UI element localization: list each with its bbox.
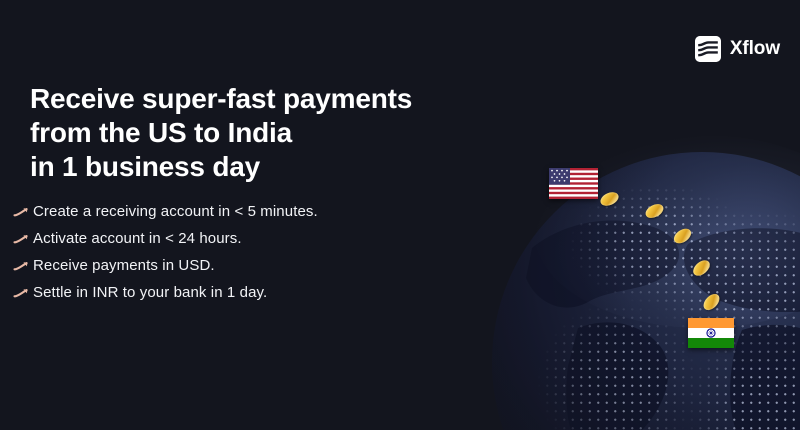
gold-coin-icon bbox=[598, 190, 620, 209]
list-item: Activate account in < 24 hours. bbox=[12, 227, 432, 251]
feature-list: Create a receiving account in < 5 minute… bbox=[12, 200, 432, 308]
list-item-label: Settle in INR to your bank in 1 day. bbox=[33, 283, 267, 303]
gold-coin-icon bbox=[671, 226, 693, 247]
us-flag-icon bbox=[549, 168, 598, 199]
gold-coin-icon bbox=[643, 201, 665, 221]
list-item-label: Create a receiving account in < 5 minute… bbox=[33, 202, 318, 222]
list-item-label: Activate account in < 24 hours. bbox=[33, 229, 242, 249]
globe-dot-grid bbox=[492, 152, 800, 430]
globe-sphere bbox=[492, 152, 800, 430]
globe-landmasses bbox=[492, 152, 800, 430]
list-item: Create a receiving account in < 5 minute… bbox=[12, 200, 432, 224]
xflow-logo-mark-icon bbox=[695, 36, 721, 62]
arrow-swoosh-icon bbox=[12, 260, 30, 272]
promo-banner: Receive super-fast payments from the US … bbox=[0, 0, 800, 430]
globe-highlight bbox=[534, 135, 800, 328]
globe-limb-shading bbox=[490, 150, 800, 430]
india-flag-icon bbox=[688, 318, 734, 348]
arrow-swoosh-icon bbox=[12, 233, 30, 245]
globe-illustration bbox=[492, 152, 800, 430]
gold-coin-icon bbox=[701, 291, 723, 313]
list-item: Settle in INR to your bank in 1 day. bbox=[12, 281, 432, 305]
page-title: Receive super-fast payments from the US … bbox=[30, 82, 460, 184]
list-item: Receive payments in USD. bbox=[12, 254, 432, 278]
arrow-swoosh-icon bbox=[12, 206, 30, 218]
arrow-swoosh-icon bbox=[12, 287, 30, 299]
brand-logo[interactable]: Xflow bbox=[695, 36, 780, 62]
gold-coin-icon bbox=[690, 257, 712, 278]
list-item-label: Receive payments in USD. bbox=[33, 256, 215, 276]
brand-name: Xflow bbox=[730, 38, 780, 60]
